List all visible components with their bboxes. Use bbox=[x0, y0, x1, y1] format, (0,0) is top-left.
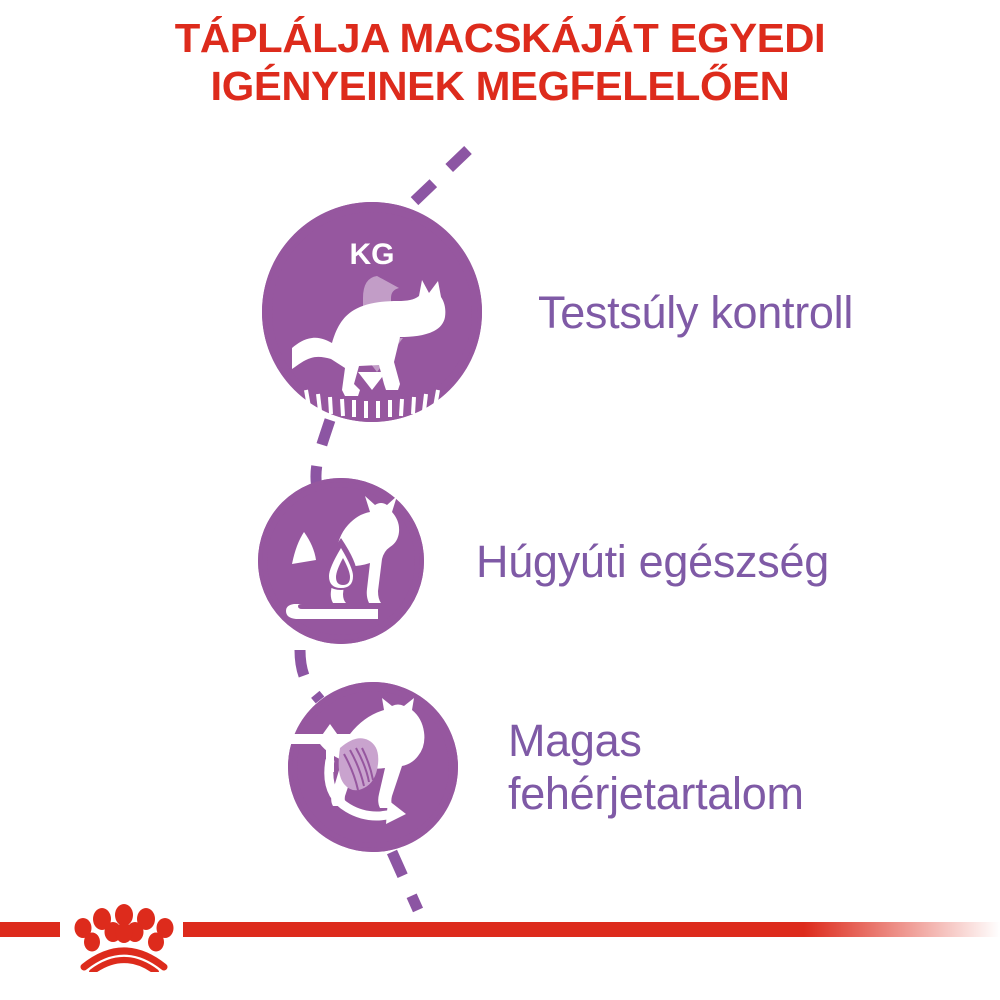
red-bar-left bbox=[0, 922, 60, 937]
benefit-label-weight-control: Testsúly kontroll bbox=[538, 286, 853, 339]
scale-ticks bbox=[306, 390, 438, 418]
benefit-item-urinary-health: Húgyúti egészség bbox=[258, 478, 829, 644]
benefits-infographic-page: TÁPLÁLJA MACSKÁJÁT EGYEDI IGÉNYEINEK MEG… bbox=[0, 0, 1000, 1000]
footer-brand-bar bbox=[0, 890, 1000, 1000]
cat-scale-glyph: KG bbox=[262, 202, 482, 422]
litter-shape bbox=[292, 532, 316, 564]
benefit-item-weight-control: KG bbox=[262, 202, 853, 422]
headline-line-2: IGÉNYEINEK MEGFELELŐEN bbox=[0, 62, 1000, 110]
red-bar-right bbox=[183, 922, 1000, 937]
muscle-fibre bbox=[339, 738, 379, 790]
cat-muscle-protein-icon bbox=[288, 682, 458, 852]
page-title: TÁPLÁLJA MACSKÁJÁT EGYEDI IGÉNYEINEK MEG… bbox=[0, 14, 1000, 110]
cat-on-scale-icon: KG bbox=[262, 202, 482, 422]
headline-line-1: TÁPLÁLJA MACSKÁJÁT EGYEDI bbox=[0, 14, 1000, 62]
benefit-label-urinary-health: Húgyúti egészség bbox=[476, 535, 829, 588]
scale-pointer bbox=[358, 372, 386, 390]
cat-protein-glyph bbox=[288, 682, 458, 852]
cat-water-drop-icon bbox=[258, 478, 424, 644]
kg-label: KG bbox=[350, 238, 395, 271]
cat-tail bbox=[286, 604, 378, 619]
benefit-item-high-protein: Magas fehérjetartalom bbox=[288, 682, 804, 852]
crown-dots bbox=[75, 904, 174, 952]
royal-canin-crown-logo bbox=[64, 900, 184, 972]
cat-urinary-glyph bbox=[258, 478, 424, 644]
benefit-label-high-protein: Magas fehérjetartalom bbox=[508, 714, 804, 820]
curved-arrow-head bbox=[386, 800, 406, 824]
crown-arcs bbox=[84, 951, 164, 972]
